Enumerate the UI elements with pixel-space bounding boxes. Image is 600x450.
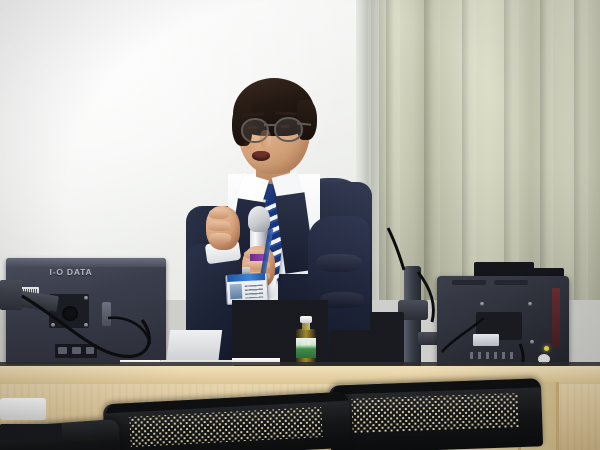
finger — [209, 209, 229, 219]
photograph-canvas: I-O DATA お茶 — [0, 0, 600, 450]
usb-port — [72, 347, 81, 354]
monitor-screw — [480, 302, 484, 306]
desk-object-foreground — [0, 398, 46, 420]
eyeglasses-bridge — [264, 124, 275, 126]
curtain-fold — [386, 0, 400, 300]
monitor-vent — [452, 280, 486, 285]
finger — [208, 221, 231, 231]
monitor-side-strip — [552, 288, 560, 348]
monitor-screw — [51, 323, 55, 327]
monitor-screw — [528, 302, 532, 306]
id-badge-photo — [230, 284, 243, 300]
monitor-screw — [84, 296, 88, 300]
curtain-fold — [540, 0, 553, 300]
eyeglasses-lens-right — [274, 117, 303, 142]
tea-bottle-neck — [302, 322, 310, 330]
monitor-vent — [494, 280, 528, 285]
right-monitor-buttons[interactable] — [470, 352, 514, 359]
nose — [260, 130, 271, 149]
curtain-fold — [462, 0, 476, 300]
microphone-capsule — [248, 206, 270, 232]
monitor-screw — [84, 323, 88, 327]
usb-port — [58, 347, 67, 354]
mouth — [252, 151, 270, 161]
curtain-shading — [379, 0, 600, 300]
curtain-fold — [424, 0, 440, 300]
tea-bottle-label-text: お茶 — [297, 341, 315, 347]
left-monitor-top-edge — [6, 258, 166, 267]
curtain-fold — [574, 0, 588, 300]
usb-port — [86, 347, 94, 354]
finger — [209, 233, 231, 243]
left-monitor-side-connector — [102, 302, 111, 326]
left-monitor-ball-joint — [62, 306, 78, 321]
device-block-rear — [370, 312, 404, 366]
power-led — [544, 346, 549, 351]
left-monitor-arm-joint — [0, 280, 22, 310]
monitor-screw — [530, 340, 534, 344]
io-data-brand-logo: I-O DATA — [40, 267, 102, 278]
chair-perforation-mesh — [351, 393, 518, 433]
id-badge-text-lines — [245, 285, 264, 299]
tea-bottle-cap — [300, 316, 312, 323]
desk-object-foreground-dark — [0, 424, 62, 440]
curtain-fold — [504, 0, 519, 300]
sleeve-fold — [316, 254, 362, 272]
right-monitor-label — [473, 334, 499, 346]
